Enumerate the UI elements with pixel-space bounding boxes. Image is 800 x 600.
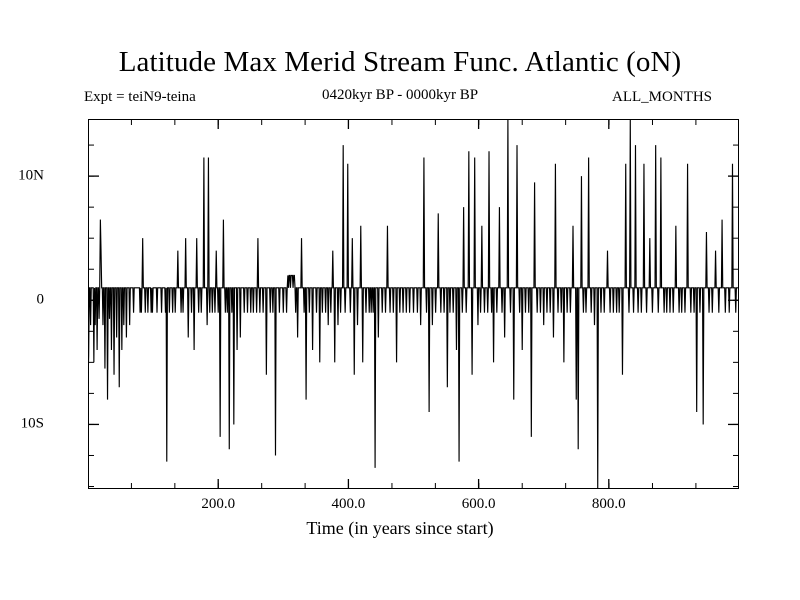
x-tick-label: 800.0 xyxy=(569,496,649,513)
plot-area xyxy=(88,119,739,489)
y-tick-label: 10N xyxy=(4,168,44,185)
x-axis-title: Time (in years since start) xyxy=(0,518,800,539)
y-tick-label: 10S xyxy=(4,416,44,433)
x-tick-label: 400.0 xyxy=(308,496,388,513)
chart-title: Latitude Max Merid Stream Func. Atlantic… xyxy=(0,46,800,79)
x-tick-label: 600.0 xyxy=(439,496,519,513)
data-series-line xyxy=(88,119,738,489)
x-axis-tick-labels: 200.0400.0600.0800.0 xyxy=(88,496,739,518)
y-tick-label: 0 xyxy=(4,292,44,309)
figure-canvas: Latitude Max Merid Stream Func. Atlantic… xyxy=(0,0,800,600)
x-tick-label: 200.0 xyxy=(178,496,258,513)
timeseries-plot xyxy=(88,119,739,489)
season-label: ALL_MONTHS xyxy=(612,89,712,106)
y-axis-tick-labels: 10N010S xyxy=(0,119,44,489)
